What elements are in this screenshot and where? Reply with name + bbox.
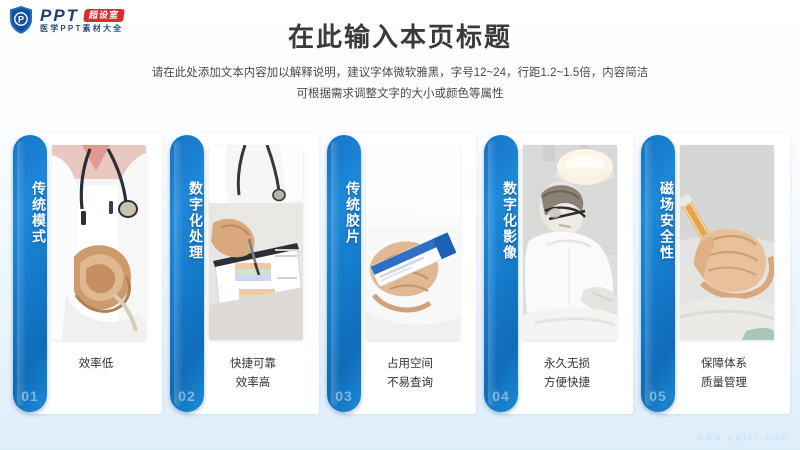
caption-line-2: 质量管理 [658, 374, 790, 393]
subtitle-line-2: 可根据需求调整文字的大小或颜色等属性 [0, 84, 800, 105]
card-item[interactable]: 永久无损 方便快捷 数字化影像 04 [484, 133, 633, 414]
card-tab[interactable] [170, 135, 204, 412]
card-tab[interactable] [484, 135, 518, 412]
card-row: 效率低 传统模式 01 [13, 133, 789, 414]
caption-line-1: 永久无损 [501, 355, 633, 374]
card-tab[interactable] [13, 135, 47, 412]
card-caption: 占用空间 不易查询 [344, 355, 476, 393]
page-subtitle: 请在此处添加文本内容加以解释说明，建议字体微软雅黑，字号12~24，行距1.2~… [0, 63, 800, 106]
card-number: 04 [484, 388, 518, 404]
card-caption: 效率低 [30, 355, 162, 374]
page-title: 在此输入本页标题 [0, 17, 800, 54]
card-item[interactable]: 占用空间 不易查询 传统胶片 03 [327, 133, 476, 414]
footer-watermark: www.ppter.com [696, 432, 790, 442]
caption-line-2: 方便快捷 [501, 374, 633, 393]
card-photo [209, 145, 303, 340]
card-photo [523, 145, 617, 340]
card-number: 03 [327, 388, 361, 404]
card-tab-label: 数字化处理 [170, 181, 204, 261]
card-number: 01 [13, 388, 47, 404]
caption-line-1: 快捷可靠 [187, 355, 319, 374]
caption-line-1: 效率低 [30, 355, 162, 374]
card-caption: 保障体系 质量管理 [658, 355, 790, 393]
card-caption: 快捷可靠 效率高 [187, 355, 319, 393]
caption-line-2: 效率高 [187, 374, 319, 393]
card-number: 05 [641, 388, 675, 404]
card-tab-label: 数字化影像 [484, 181, 518, 261]
card-tab-label: 传统胶片 [327, 181, 361, 245]
caption-line-1: 保障体系 [658, 355, 790, 374]
card-tab[interactable] [327, 135, 361, 412]
card-photo [366, 145, 460, 340]
card-item[interactable]: 保障体系 质量管理 磁场安全性 05 [641, 133, 790, 414]
subtitle-line-1: 请在此处添加文本内容加以解释说明，建议字体微软雅黑，字号12~24，行距1.2~… [0, 63, 800, 84]
card-item[interactable]: 效率低 传统模式 01 [13, 133, 162, 414]
card-item[interactable]: 快捷可靠 效率高 数字化处理 02 [170, 133, 319, 414]
card-photo [680, 145, 774, 340]
card-tab-label: 传统模式 [13, 181, 47, 245]
caption-line-1: 占用空间 [344, 355, 476, 374]
card-caption: 永久无损 方便快捷 [501, 355, 633, 393]
card-number: 02 [170, 388, 204, 404]
caption-line-2: 不易查询 [344, 374, 476, 393]
card-tab-label: 磁场安全性 [641, 181, 675, 261]
card-tab[interactable] [641, 135, 675, 412]
card-photo [52, 145, 146, 340]
